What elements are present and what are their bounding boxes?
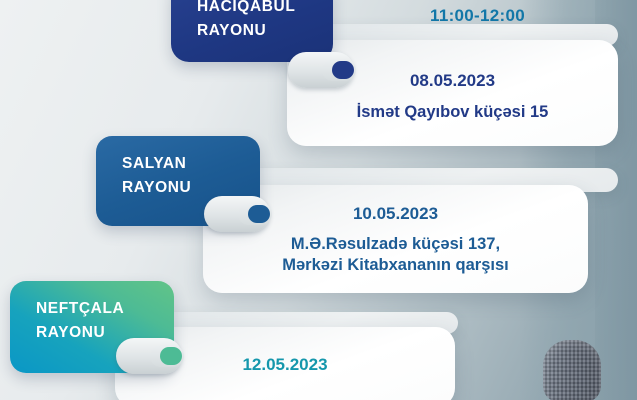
microphone-icon	[543, 328, 601, 400]
session-time-label: 11:00-12:00	[430, 6, 525, 26]
region-badge-label-salyan: SALYAN RAYONU	[122, 152, 191, 200]
region-badge-label-neftcala: NEFTÇALA RAYONU	[36, 297, 124, 345]
info-card-salyan[interactable]: 10.05.2023 M.Ə.Rəsulzadə küçəsi 137, Mər…	[203, 185, 588, 293]
poster-canvas: 11:00-12:00 08.05.2023 İsmət Qayıbov küç…	[0, 0, 637, 400]
card-date-2: 10.05.2023	[203, 203, 588, 225]
region-badge-neftcala[interactable]: NEFTÇALA RAYONU	[10, 281, 174, 373]
region-badge-salyan[interactable]: SALYAN RAYONU	[96, 136, 260, 226]
card-address-1: İsmət Qayıbov küçəsi 15	[287, 102, 618, 123]
region-badge-haciqabul[interactable]: HACIQABUL RAYONU	[171, 0, 333, 62]
info-card-haciqabul[interactable]: 08.05.2023 İsmət Qayıbov küçəsi 15	[287, 40, 618, 146]
card-date-1: 08.05.2023	[287, 70, 618, 92]
card-address-2: M.Ə.Rəsulzadə küçəsi 137, Mərkəzi Kitabx…	[203, 234, 588, 276]
region-badge-label-haciqabul: HACIQABUL RAYONU	[197, 0, 295, 43]
